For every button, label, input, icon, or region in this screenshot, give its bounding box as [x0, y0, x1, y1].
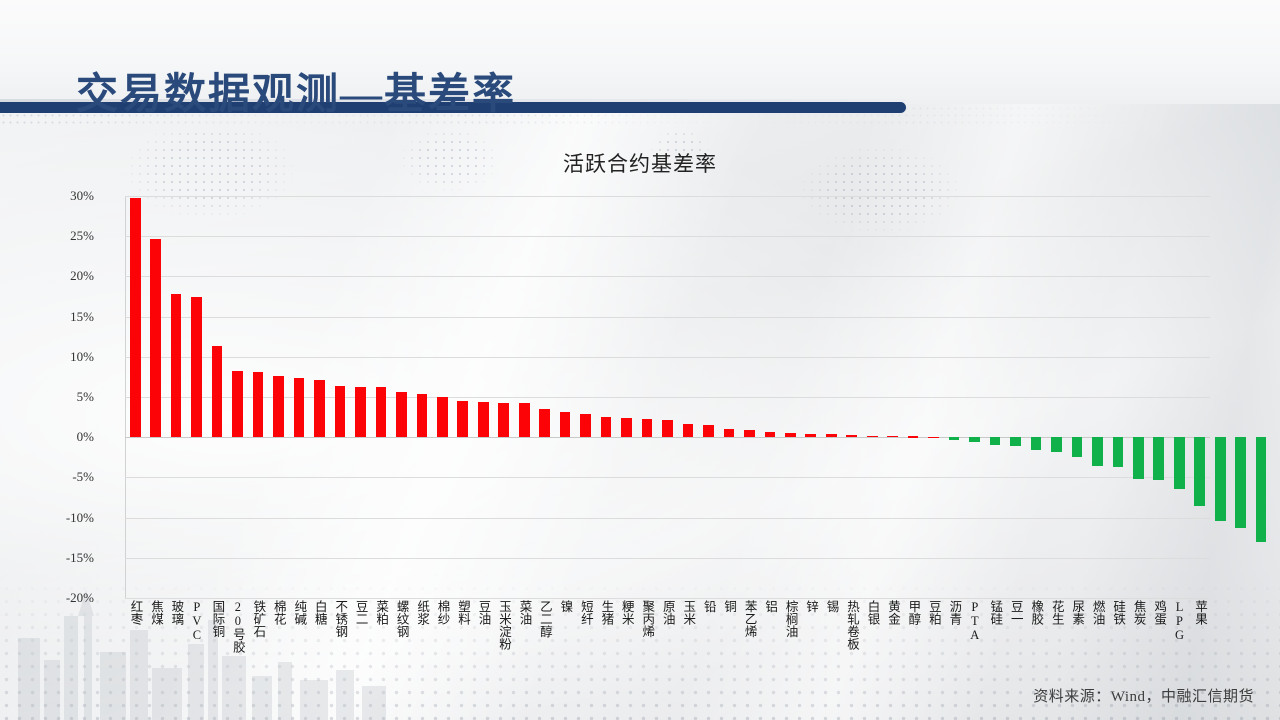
gridline [125, 276, 1210, 277]
chart-bar [396, 392, 407, 437]
x-axis-labels: 红枣焦煤玻璃PVC国际铜20号胶铁矿石棉花纯碱白糖不锈钢豆二菜粕螺纹钢纸浆棉纱塑… [125, 600, 1210, 695]
x-axis-tick-label: 白糖 [313, 600, 326, 625]
y-axis-tick-label: -20% [50, 590, 94, 606]
chart-bar [846, 435, 857, 437]
x-axis-tick-label: 红枣 [129, 600, 142, 625]
x-axis-tick-label: 黄金 [886, 600, 899, 625]
y-axis-tick-label: 25% [50, 228, 94, 244]
gridline [125, 558, 1210, 559]
x-axis-tick-label: 短纤 [579, 600, 592, 625]
x-axis-tick-label: 豆二 [354, 600, 367, 625]
gridline [125, 357, 1210, 358]
y-axis-tick-label: 20% [50, 268, 94, 284]
x-axis-tick-label: LPG [1173, 600, 1186, 642]
chart-bar [928, 437, 939, 438]
gridline [125, 236, 1210, 237]
chart-bar [805, 434, 816, 438]
chart-bar [314, 380, 325, 437]
chart-bar [621, 418, 632, 437]
gridline [125, 518, 1210, 519]
chart-bar [580, 414, 591, 437]
chart-bar [1051, 437, 1062, 452]
chart-bar [519, 403, 530, 437]
chart-bar [662, 420, 673, 438]
gridline [125, 196, 1210, 197]
x-axis-tick-label: PVC [190, 600, 203, 642]
y-axis-tick-label: 0% [50, 429, 94, 445]
x-axis-tick-label: 生猪 [600, 600, 613, 625]
x-axis-tick-label: 铁矿石 [252, 600, 265, 638]
x-axis-tick-label: 热轧卷板 [845, 600, 858, 650]
chart-bar [1031, 437, 1042, 450]
x-axis-tick-label: 镍 [559, 600, 572, 613]
page-title: 交易数据观测—基差率 [76, 60, 516, 121]
chart-bar [273, 376, 284, 437]
x-axis-tick-label: 鸡蛋 [1153, 600, 1166, 625]
chart-bar [1072, 437, 1083, 457]
y-axis-line [125, 196, 126, 598]
chart-bar [1133, 437, 1144, 479]
chart-bar [1174, 437, 1185, 489]
chart-bar [150, 239, 161, 437]
chart-bar [990, 437, 1001, 445]
chart-bar [171, 294, 182, 437]
chart-bar [539, 409, 550, 437]
x-axis-tick-label: 铜 [723, 600, 736, 613]
chart-bar [1235, 437, 1246, 528]
x-axis-tick-label: 玻璃 [170, 600, 183, 625]
chart-bar [826, 434, 837, 437]
x-axis-tick-label: 国际铜 [211, 600, 224, 638]
x-axis-tick-label: 苯乙烯 [743, 600, 756, 638]
x-axis-tick-label: 沥青 [948, 600, 961, 625]
chart-bar [1194, 437, 1205, 505]
x-axis-tick-label: PTA [968, 600, 981, 642]
x-axis-tick-label: 铝 [764, 600, 777, 613]
x-axis-tick-label: 尿素 [1071, 600, 1084, 625]
gridline [125, 317, 1210, 318]
x-axis-tick-label: 粳米 [620, 600, 633, 625]
x-axis-tick-label: 原油 [661, 600, 674, 625]
y-axis-tick-label: -10% [50, 510, 94, 526]
x-axis-tick-label: 锡 [825, 600, 838, 613]
x-axis-tick-label: 纯碱 [293, 600, 306, 625]
chart-bar [212, 346, 223, 438]
y-axis-tick-label: -15% [50, 550, 94, 566]
x-axis-tick-label: 甲醇 [907, 600, 920, 625]
chart-bar [498, 403, 509, 438]
x-axis-tick-label: 螺纹钢 [395, 600, 408, 638]
x-axis-tick-label: 纸浆 [416, 600, 429, 625]
chart-bar [949, 437, 960, 439]
chart-bar [703, 425, 714, 437]
x-axis-tick-label: 菜油 [518, 600, 531, 625]
chart-bar [1010, 437, 1021, 446]
y-axis-tick-label: 5% [50, 389, 94, 405]
city-skyline-graphic [0, 520, 560, 720]
chart-bar [294, 378, 305, 437]
gridline [125, 397, 1210, 398]
chart-bar [785, 433, 796, 437]
x-axis-tick-label: 不锈钢 [334, 600, 347, 638]
y-axis-tick-label: 10% [50, 349, 94, 365]
chart-bar [376, 387, 387, 437]
chart-bar [355, 387, 366, 438]
chart-bar [191, 297, 202, 438]
chart-bar [642, 419, 653, 437]
x-axis-tick-label: 铅 [702, 600, 715, 613]
x-axis-tick-label: 硅铁 [1112, 600, 1125, 625]
x-axis-tick-label: 焦煤 [149, 600, 162, 625]
y-axis-tick-label: -5% [50, 469, 94, 485]
x-axis-tick-label: 聚丙烯 [641, 600, 654, 638]
y-axis-tick-label: 30% [50, 188, 94, 204]
x-axis-tick-label: 棉花 [272, 600, 285, 625]
chart-bar [601, 417, 612, 437]
chart-bar [1256, 437, 1267, 542]
slide-background: 交易数据观测—基差率 活跃合约基差率 红枣焦煤玻璃PVC国际铜20号胶铁矿石棉花… [0, 0, 1280, 720]
x-axis-tick-label: 橡胶 [1030, 600, 1043, 625]
chart-bar [457, 401, 468, 437]
x-axis-tick-label: 20号胶 [231, 600, 244, 653]
chart-bar [335, 386, 346, 437]
x-axis-tick-label: 燃油 [1091, 600, 1104, 625]
chart-plot-area [125, 196, 1210, 598]
chart-bar [1092, 437, 1103, 466]
chart-bar [417, 394, 428, 437]
x-axis-tick-label: 白银 [866, 600, 879, 625]
x-axis-tick-label: 乙二醇 [538, 600, 551, 638]
chart-bar [1153, 437, 1164, 480]
chart-title: 活跃合约基差率 [0, 148, 1280, 178]
x-axis-tick-label: 豆油 [477, 600, 490, 625]
x-axis-tick-label: 锌 [805, 600, 818, 613]
x-axis-tick-label: 菜粕 [375, 600, 388, 625]
x-axis-tick-label: 花生 [1050, 600, 1063, 625]
chart-bar [724, 429, 735, 437]
x-axis-tick-label: 豆粕 [927, 600, 940, 625]
zero-line [125, 437, 1210, 438]
chart-bar [867, 436, 878, 438]
chart-bar [478, 402, 489, 437]
x-axis-tick-label: 塑料 [457, 600, 470, 625]
x-axis-tick-label: 玉米淀粉 [497, 600, 510, 650]
gridline [125, 598, 1210, 599]
chart-bar [560, 412, 571, 437]
y-axis-tick-label: 15% [50, 309, 94, 325]
x-axis-tick-label: 棕榈油 [784, 600, 797, 638]
chart-bar [1215, 437, 1226, 521]
x-axis-tick-label: 焦炭 [1132, 600, 1145, 625]
gridline [125, 477, 1210, 478]
x-axis-tick-label: 苹果 [1194, 600, 1207, 625]
chart-bar [1113, 437, 1124, 467]
chart-bar [253, 372, 264, 437]
chart-bar [683, 424, 694, 438]
chart-bar [908, 436, 919, 437]
chart-bar [969, 437, 980, 442]
x-axis-tick-label: 豆一 [1009, 600, 1022, 625]
chart-bar [887, 436, 898, 437]
x-axis-tick-label: 棉纱 [436, 600, 449, 625]
chart-bar [437, 397, 448, 437]
source-note: 资料来源：Wind，中融汇信期货 [1033, 685, 1254, 706]
chart-bar [744, 430, 755, 437]
chart-bar [130, 198, 141, 438]
x-axis-tick-label: 锰硅 [989, 600, 1002, 625]
chart-bar [765, 432, 776, 438]
chart-bar [232, 371, 243, 437]
x-axis-tick-label: 玉米 [682, 600, 695, 625]
